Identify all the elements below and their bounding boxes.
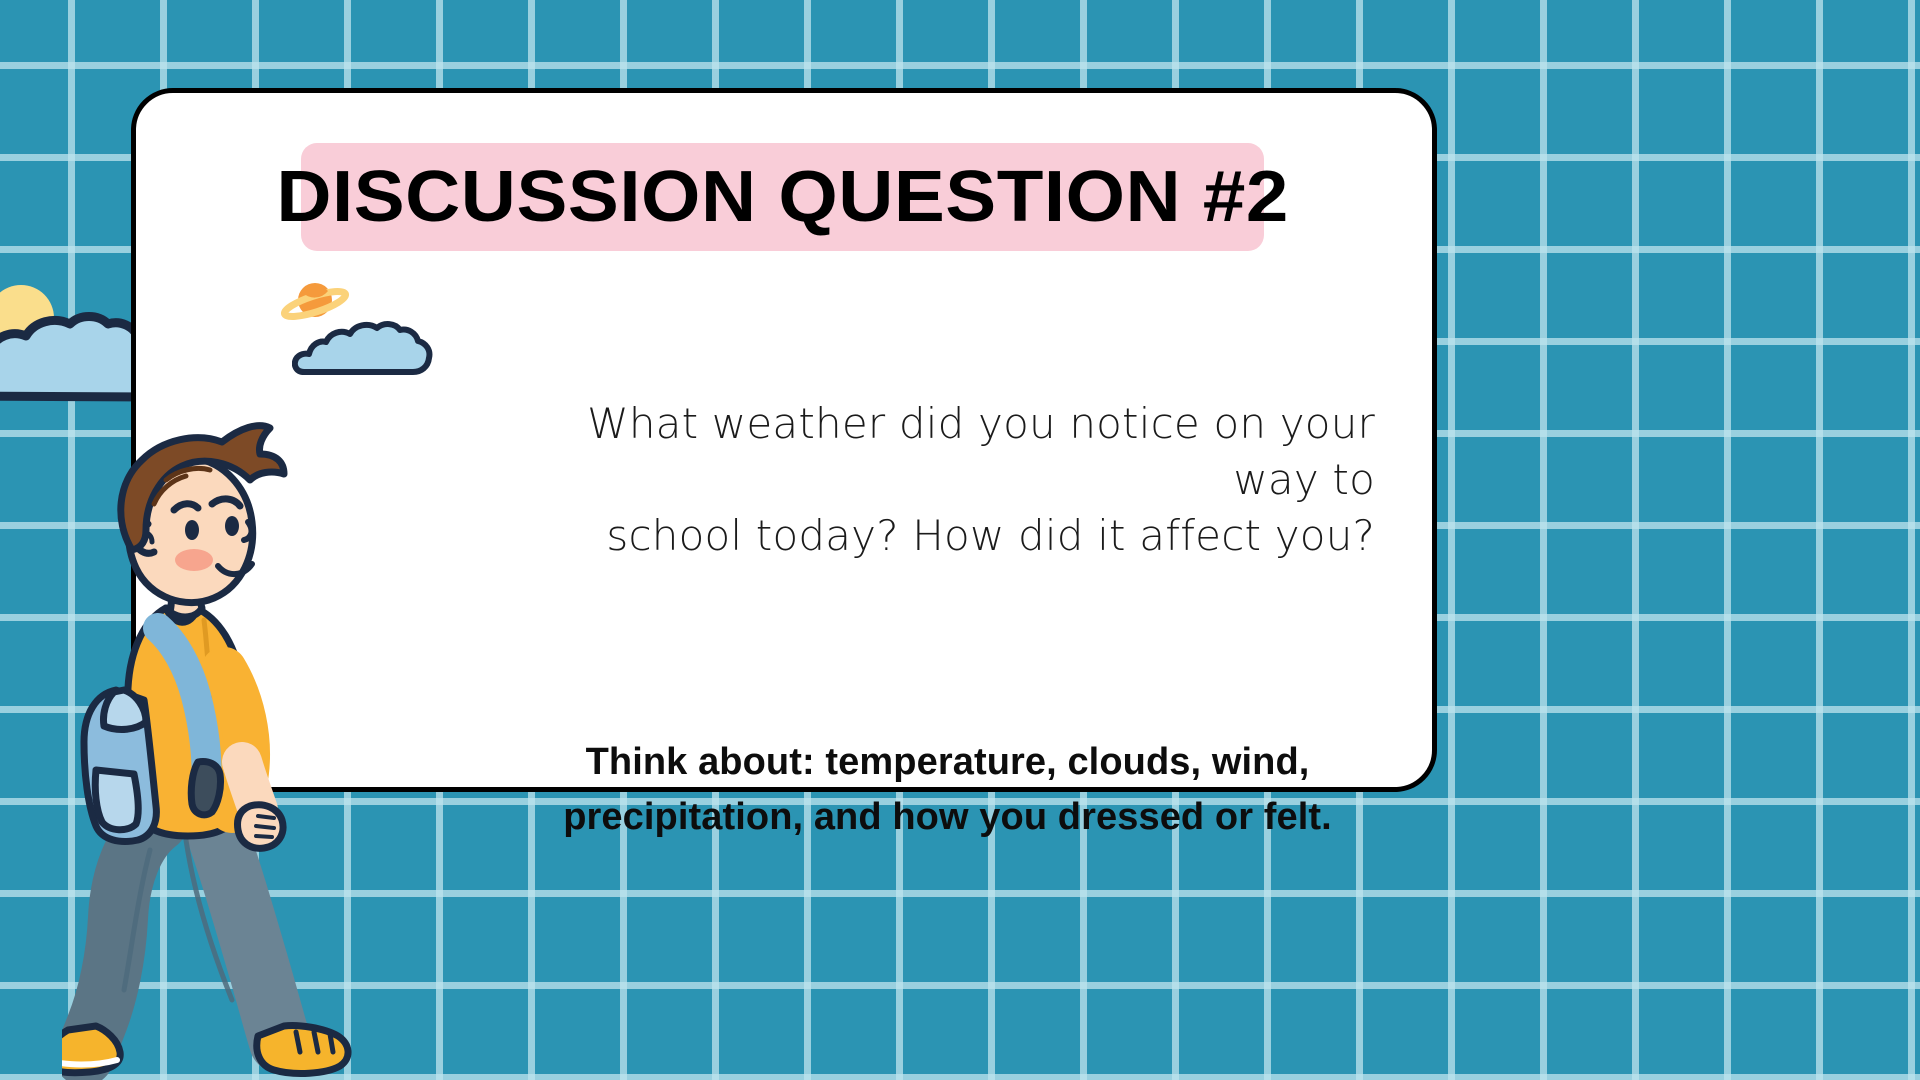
walking-student-illustration	[62, 370, 392, 1080]
discussion-question-text: What weather did you notice on your way …	[520, 396, 1375, 564]
title-banner: DISCUSSION QUESTION #2	[301, 143, 1264, 251]
think-about-prompt: Think about: temperature, clouds, wind, …	[520, 735, 1375, 845]
prompt-line-2: precipitation, and how you dressed or fe…	[520, 790, 1375, 845]
prompt-line-1: Think about: temperature, clouds, wind,	[520, 735, 1375, 790]
question-line-1: What weather did you notice on your way …	[520, 396, 1375, 508]
question-line-2: school today? How did it affect you?	[520, 508, 1375, 564]
page-title: DISCUSSION QUESTION #2	[276, 161, 1289, 233]
slide-canvas: DISCUSSION QUESTION #2 What weather did …	[0, 0, 1920, 1080]
saturn-planet-icon	[280, 278, 350, 335]
